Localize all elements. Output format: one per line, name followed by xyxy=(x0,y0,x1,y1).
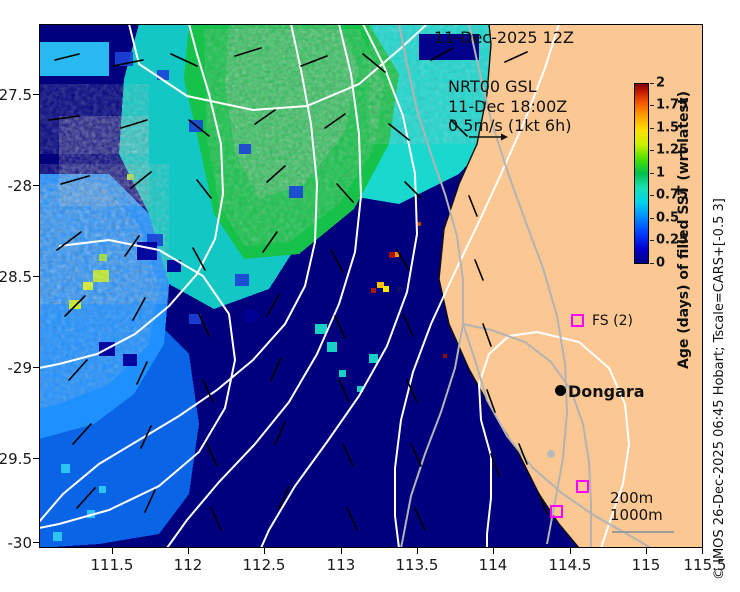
x-tick-4 xyxy=(417,548,418,554)
y-label-1: -28 xyxy=(0,177,32,195)
colorbar-tick-1 xyxy=(650,240,654,241)
x-tick-8 xyxy=(702,548,703,554)
x-tick-7 xyxy=(646,548,647,554)
colorbar-tick-5 xyxy=(650,150,654,151)
x-tick-5 xyxy=(493,548,494,554)
x-tick-1 xyxy=(188,548,189,554)
figure-root: 11-Dec-2025 12Z NRT00 GSL 11-Dec 18:00Z … xyxy=(0,0,740,592)
source-annotation-block: NRT00 GSL 11-Dec 18:00Z 0.5m/s (1kt 6h) xyxy=(448,77,571,136)
site-marker-square-a[interactable] xyxy=(576,480,589,493)
colorbar-tick-3 xyxy=(650,195,654,196)
y-tick-3 xyxy=(33,367,39,368)
x-label-5: 114 xyxy=(458,556,528,574)
colorbar-label-8: 2 xyxy=(656,77,665,90)
dongara-town-label: Dongara xyxy=(568,382,645,401)
y-label-4: -29.5 xyxy=(0,450,32,468)
x-label-8: 115.5 xyxy=(670,556,740,574)
source-line-time: 11-Dec 18:00Z xyxy=(448,97,571,117)
date-stamp: 11-Dec-2025 12Z xyxy=(434,28,574,47)
site-marker-square-b[interactable] xyxy=(550,505,563,518)
colorbar-tick-8 xyxy=(650,83,654,84)
colorbar-title: Age (days) of filled SST (wrt latest) xyxy=(676,80,692,380)
fs-legend-label: FS (2) xyxy=(592,313,633,329)
depth-label-200m: 200m xyxy=(610,490,690,507)
y-tick-4 xyxy=(33,458,39,459)
dongara-town-dot-icon xyxy=(555,385,566,396)
x-label-6: 114.5 xyxy=(535,556,605,574)
x-label-1: 112 xyxy=(153,556,223,574)
colorbar-tick-2 xyxy=(650,218,654,219)
colorbar-label-4: 1 xyxy=(656,167,665,180)
bathymetry-legend: 200m 1000m xyxy=(610,490,690,525)
colorbar-gradient xyxy=(634,83,649,264)
x-label-4: 113.5 xyxy=(382,556,452,574)
colorbar-tick-7 xyxy=(650,105,654,106)
colorbar-tick-4 xyxy=(650,173,654,174)
x-tick-3 xyxy=(341,548,342,554)
y-tick-5 xyxy=(33,542,39,543)
depth-label-1000m: 1000m xyxy=(610,507,690,524)
y-label-0: -27.5 xyxy=(0,86,32,104)
current-vector-reference-arrow xyxy=(468,131,508,143)
y-tick-1 xyxy=(33,185,39,186)
y-label-2: -28.5 xyxy=(0,268,32,286)
source-line-scale: 0.5m/s (1kt 6h) xyxy=(448,116,571,136)
current-vector-quiver xyxy=(39,24,703,548)
x-tick-0 xyxy=(112,548,113,554)
bathymetry-legend-rule xyxy=(612,531,674,533)
colorbar-label-0: 0 xyxy=(656,257,665,270)
source-line-model: NRT00 GSL xyxy=(448,77,571,97)
y-label-5: -30 xyxy=(0,534,32,552)
y-tick-0 xyxy=(33,94,39,95)
y-label-3: -29 xyxy=(0,359,32,377)
x-tick-2 xyxy=(264,548,265,554)
x-label-0: 111.5 xyxy=(77,556,147,574)
credit-text: © IMOS 26-Dec-2025 06:45 Hobart; Tscale=… xyxy=(712,160,727,580)
x-label-3: 113 xyxy=(306,556,376,574)
fs-legend-square-icon xyxy=(571,314,584,327)
x-label-2: 112.5 xyxy=(229,556,299,574)
map-plot-area[interactable] xyxy=(39,24,703,548)
colorbar-tick-0 xyxy=(650,263,654,264)
colorbar-tick-6 xyxy=(650,128,654,129)
x-tick-6 xyxy=(570,548,571,554)
y-tick-2 xyxy=(33,276,39,277)
